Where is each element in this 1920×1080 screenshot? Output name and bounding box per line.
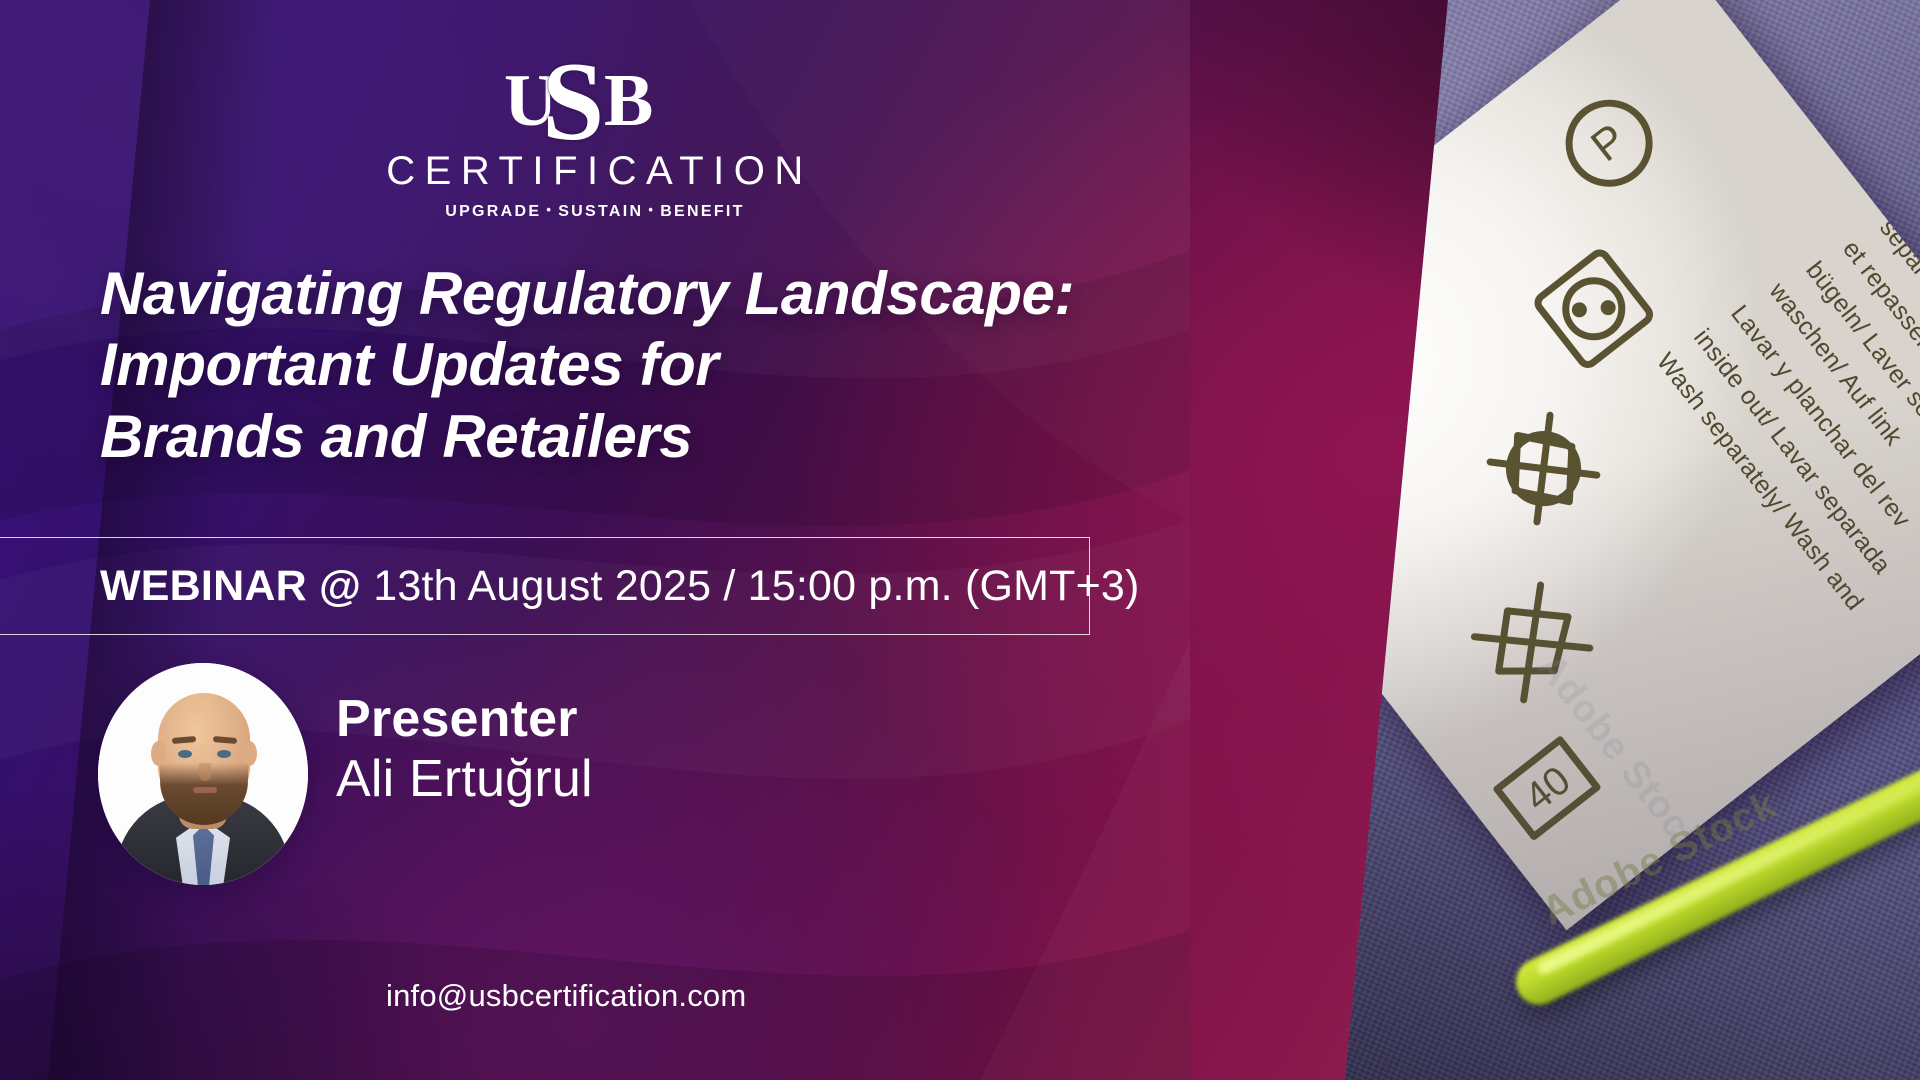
headline-line-2: Important Updates for xyxy=(100,329,1160,400)
logo-tagline: UPGRADE•SUSTAIN•BENEFIT xyxy=(0,203,1190,221)
page-title: Navigating Regulatory Landscape: Importa… xyxy=(100,258,1160,472)
webinar-details: 13th August 2025 / 15:00 p.m. (GMT+3) xyxy=(361,562,1139,610)
tagline-upgrade: UPGRADE xyxy=(445,203,541,220)
logo-letter-s: S xyxy=(542,46,604,158)
avatar xyxy=(98,663,308,885)
usb-certification-logo: U B S CERTIFICATION UPGRADE•SUSTAIN•BENE… xyxy=(0,58,1190,221)
presenter-headshot xyxy=(98,663,308,885)
presenter-name: Ali Ertuğrul xyxy=(336,748,593,810)
headline-line-3: Brands and Retailers xyxy=(100,401,1160,472)
tagline-separator-icon: • xyxy=(643,202,660,217)
headline-line-1: Navigating Regulatory Landscape: xyxy=(100,258,1160,329)
presenter-role-label: Presenter xyxy=(336,690,593,748)
tagline-benefit: BENEFIT xyxy=(660,203,745,220)
logo-monogram: U B S xyxy=(480,58,710,142)
webinar-label: WEBINAR @ xyxy=(100,562,361,610)
contact-email[interactable]: info@usbcertification.com xyxy=(386,978,746,1014)
webinar-datetime-bar: WEBINAR @ 13th August 2025 / 15:00 p.m. … xyxy=(0,537,1090,635)
webinar-promo-banner: P xyxy=(0,0,1920,1080)
presenter-block: Presenter Ali Ertuğrul xyxy=(336,690,593,811)
webinar-datetime-text: WEBINAR @ 13th August 2025 / 15:00 p.m. … xyxy=(0,562,1140,611)
tagline-separator-icon: • xyxy=(541,202,558,217)
logo-letter-b: B xyxy=(604,64,653,138)
tagline-sustain: SUSTAIN xyxy=(558,203,643,220)
